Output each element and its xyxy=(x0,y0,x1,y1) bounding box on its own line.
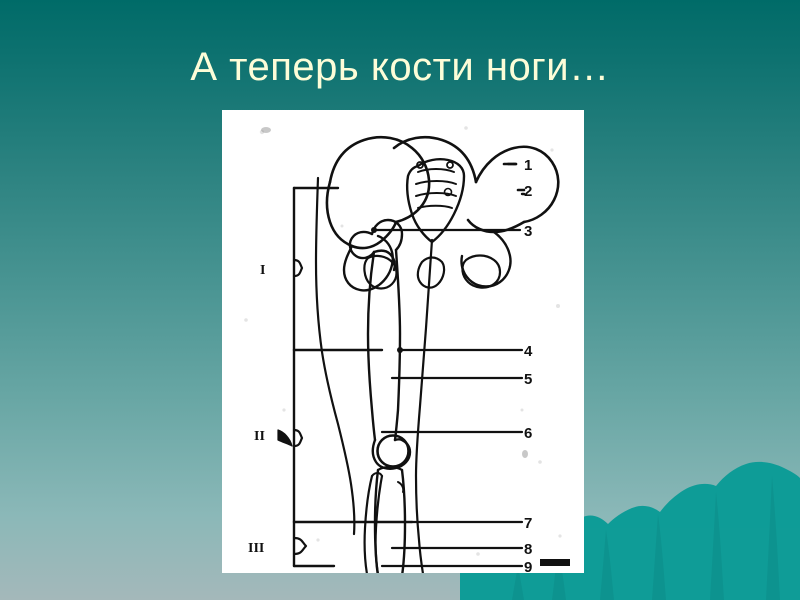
scan-black-mark xyxy=(540,559,570,566)
leg-bones-diagram: 1 2 3 4 5 6 7 8 9 I II III xyxy=(222,110,584,573)
figure-label-2: 2 xyxy=(524,183,532,200)
figure-label-5: 5 xyxy=(524,371,532,388)
figure-label-4: 4 xyxy=(524,343,533,360)
figure-label-6: 6 xyxy=(524,425,532,442)
figure-label-8: 8 xyxy=(524,541,532,558)
leg-bones-figure-panel: 1 2 3 4 5 6 7 8 9 I II III xyxy=(222,110,584,573)
slide-canvas: А теперь кости ноги… xyxy=(0,0,800,600)
figure-label-3: 3 xyxy=(524,223,532,240)
figure-section-label-II: II xyxy=(254,429,265,444)
figure-label-9: 9 xyxy=(524,559,532,573)
figure-label-1: 1 xyxy=(524,157,532,174)
figure-section-label-III: III xyxy=(248,541,264,556)
figure-section-label-I: I xyxy=(260,263,265,278)
figure-label-7: 7 xyxy=(524,515,532,532)
slide-title: А теперь кости ноги… xyxy=(0,44,800,90)
